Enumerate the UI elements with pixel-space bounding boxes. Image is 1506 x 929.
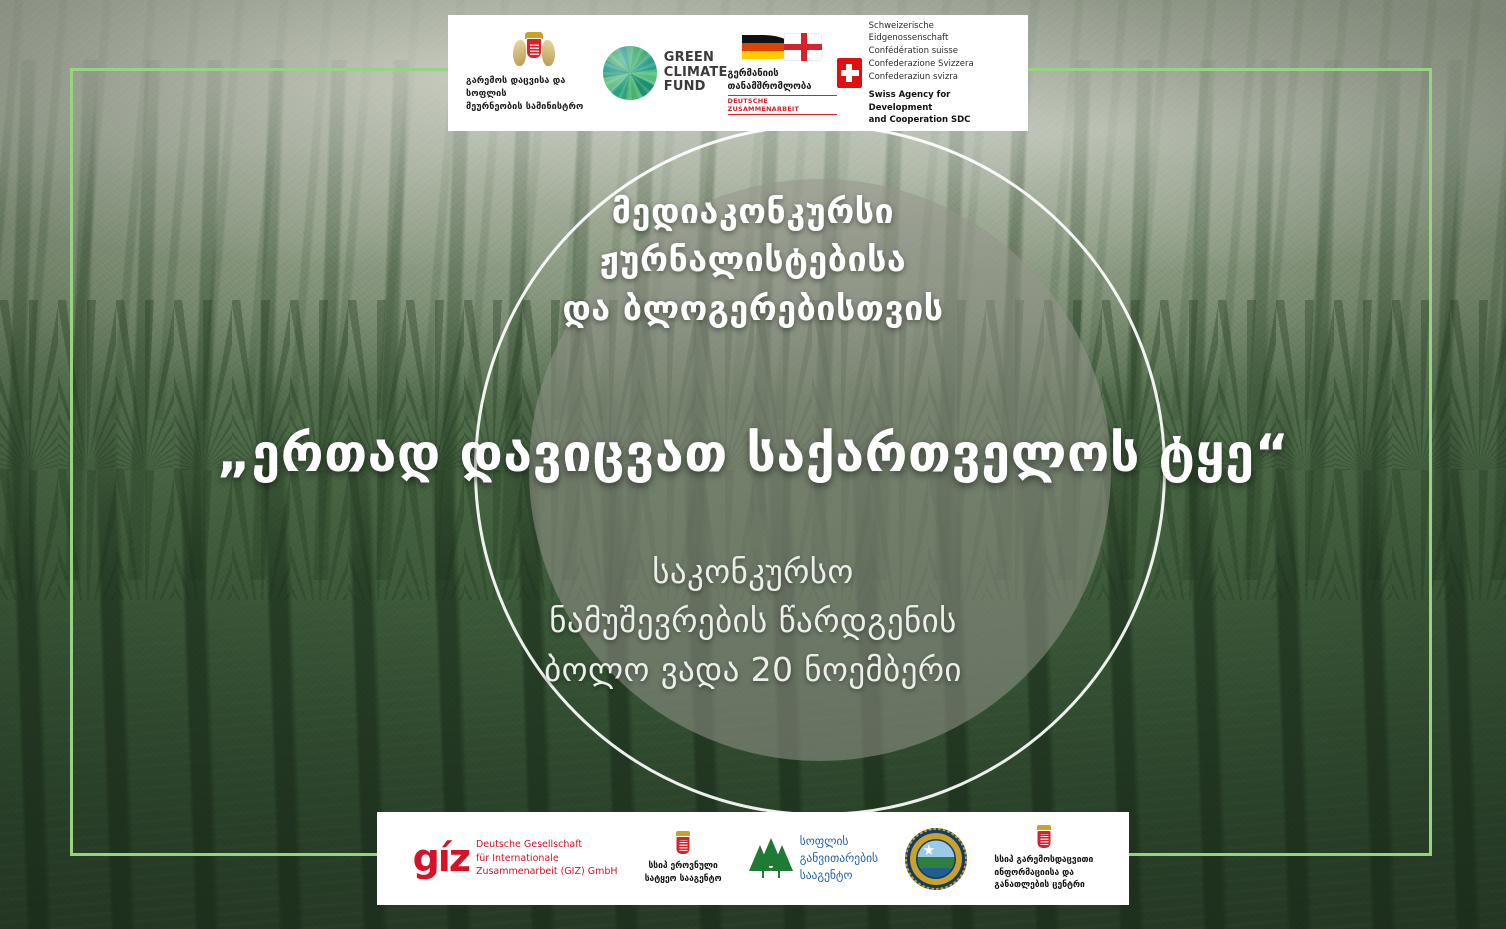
- gcf-label-line3: FUND: [664, 80, 728, 95]
- giz-label: Deutsche Gesellschaft für Internationale…: [476, 838, 618, 878]
- giz-label-line1: Deutsche Gesellschaft: [476, 838, 618, 851]
- gcf-label-line2: CLIMATE: [664, 66, 728, 81]
- georgia-coat-of-arms-icon: [512, 32, 556, 72]
- logo-german-cooperation: გერმანიის თანამშრომლობა DEUTSCHE ZUSAMME…: [728, 31, 837, 116]
- subtext-line2: ნამუშევრების წარდგენის: [0, 597, 1506, 646]
- swiss-label-rm: Confederaziun svizra: [869, 71, 1010, 84]
- logo-giz: gíz Deutsche Gesellschaft für Internatio…: [413, 838, 618, 878]
- german-cooperation-label: გერმანიის თანამშრომლობა DEUTSCHE ZUSAMME…: [728, 68, 837, 116]
- swiss-agency-line2: and Cooperation SDC: [869, 114, 1010, 126]
- forestry-agency-label: სსიპ ეროვნული სატყეო სააგენტო: [645, 860, 722, 886]
- forestry-label-line2: სატყეო სააგენტო: [645, 873, 722, 886]
- info-center-label: სსიპ გარემოსდაცვითი ინფორმაციისა და განა…: [994, 854, 1093, 892]
- logo-swiss-cooperation: Schweizerische Eidgenossenschaft Confédé…: [837, 20, 1010, 127]
- info-center-line3: განათლების ცენტრი: [994, 879, 1093, 892]
- logo-national-forestry-agency: სსიპ ეროვნული სატყეო სააგენტო: [645, 831, 722, 886]
- poster-canvas: გარემოს დაცვისა და სოფლის მეურნეობის სამ…: [0, 0, 1506, 929]
- ministry-label-line2: მეურნეობის სამინისტრო: [466, 101, 603, 114]
- bottom-logo-bar: gíz Deutsche Gesellschaft für Internatio…: [377, 812, 1129, 905]
- gcf-label: GREEN CLIMATE FUND: [664, 51, 728, 95]
- georgia-coat-of-arms-icon: [671, 831, 695, 857]
- german-label-line2: თანამშრომლობა: [728, 81, 837, 94]
- giz-label-line3: Zusammenarbeit (GIZ) GmbH: [476, 865, 618, 878]
- logo-environmental-seal: [905, 828, 967, 890]
- green-climate-fund-globe-icon: [603, 46, 657, 100]
- subtext-line3-deadline: ბოლო ვადა 20 ნოემბერი: [0, 646, 1506, 695]
- subtext-line1: საკონკურსო: [0, 548, 1506, 597]
- kicker-line1: მედიაკონკურსი: [0, 188, 1506, 236]
- gcf-label-line1: GREEN: [664, 51, 728, 66]
- logo-green-climate-fund: GREEN CLIMATE FUND: [603, 46, 728, 100]
- giz-wordmark-icon: gíz: [413, 839, 469, 877]
- swiss-label-fr: Confédération suisse: [869, 45, 1010, 58]
- swiss-label-de: Schweizerische Eidgenossenschaft: [869, 20, 1010, 46]
- rural-label-line2: განვითარების: [800, 850, 878, 867]
- kicker-line3: და ბლოგერებისთვის: [0, 285, 1506, 333]
- logo-ministry-of-environment: გარემოს დაცვისა და სოფლის მეურნეობის სამ…: [466, 32, 603, 114]
- giz-label-line2: für Internationale: [476, 852, 618, 865]
- logo-environmental-info-center: სსიპ გარემოსდაცვითი ინფორმაციისა და განა…: [994, 825, 1093, 892]
- circular-seal-icon: [905, 828, 967, 890]
- german-label-tagline: DEUTSCHE ZUSAMMENARBEIT: [728, 95, 837, 115]
- georgia-coat-of-arms-icon: [1032, 825, 1056, 851]
- logo-rural-development-agency: სოფლის განვითარების სააგენტო: [749, 833, 878, 883]
- info-center-line2: ინფორმაციისა და: [994, 867, 1093, 880]
- info-center-line1: სსიპ გარემოსდაცვითი: [994, 854, 1093, 867]
- top-logo-bar: გარემოს დაცვისა და სოფლის მეურნეობის სამ…: [448, 15, 1028, 131]
- three-trees-house-icon: [749, 838, 793, 878]
- swiss-agency-line1: Swiss Agency for Development: [869, 89, 1010, 114]
- rural-agency-label: სოფლის განვითარების სააგენტო: [800, 833, 878, 883]
- rural-label-line3: სააგენტო: [800, 867, 878, 884]
- german-label-line1: გერმანიის: [728, 68, 837, 81]
- swiss-cross-icon: [837, 58, 862, 88]
- poster-headline: „ერთად დავიცვათ საქართველოს ტყე“: [0, 424, 1506, 484]
- german-georgian-flag-ribbon-icon: [742, 31, 822, 65]
- forestry-label-line1: სსიპ ეროვნული: [645, 860, 722, 873]
- rural-label-line1: სოფლის: [800, 833, 878, 850]
- poster-kicker: მედიაკონკურსი ჟურნალისტებისა და ბლოგერებ…: [0, 188, 1506, 333]
- ministry-label-line1: გარემოს დაცვისა და სოფლის: [466, 75, 603, 101]
- ministry-label: გარემოს დაცვისა და სოფლის მეურნეობის სამ…: [466, 75, 603, 114]
- kicker-line2: ჟურნალისტებისა: [0, 236, 1506, 284]
- swiss-label: Schweizerische Eidgenossenschaft Confédé…: [869, 20, 1010, 127]
- swiss-label-it: Confederazione Svizzera: [869, 58, 1010, 71]
- poster-subtext: საკონკურსო ნამუშევრების წარდგენის ბოლო ვ…: [0, 548, 1506, 694]
